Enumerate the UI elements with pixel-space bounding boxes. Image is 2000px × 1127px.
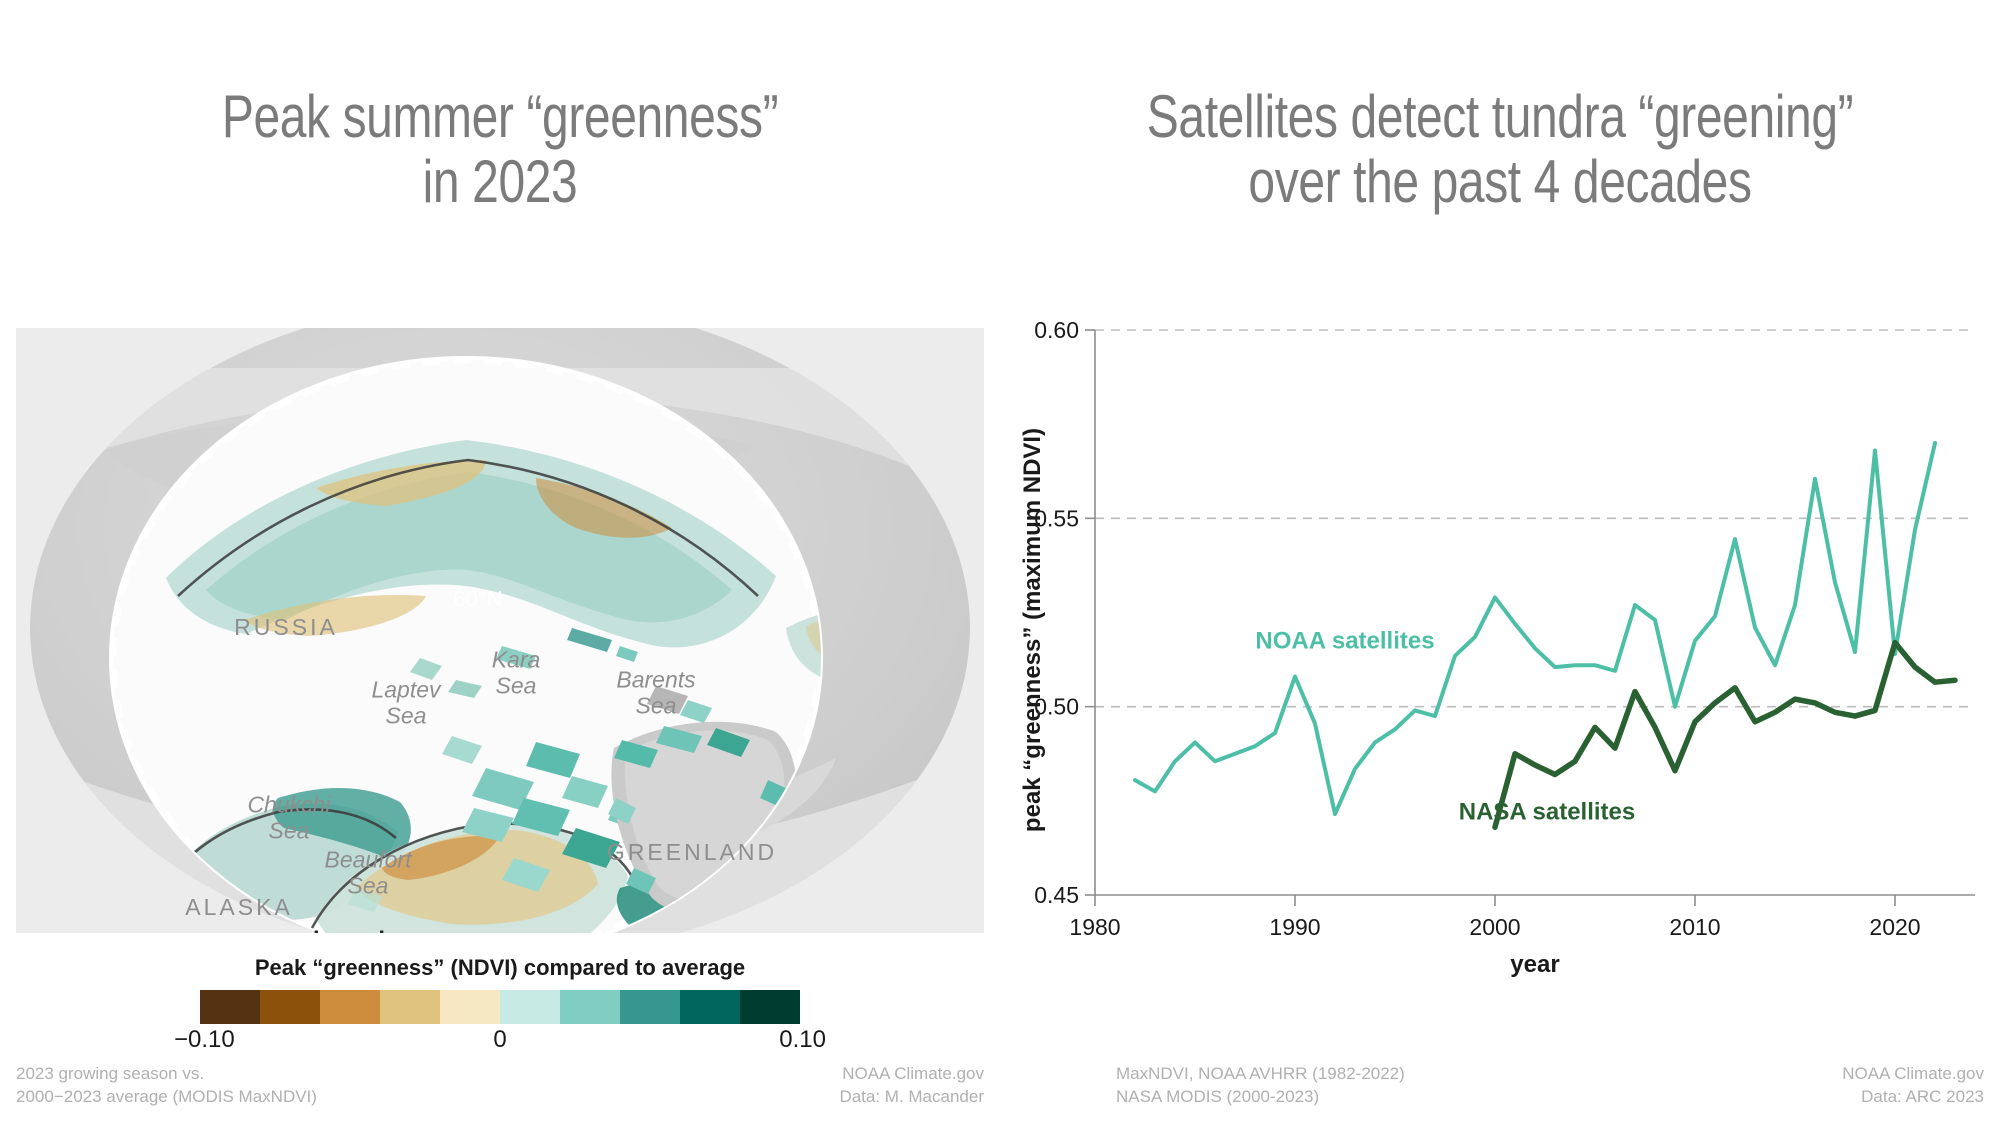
x-tick-label: 1980: [1069, 914, 1120, 940]
colorbar: [200, 990, 800, 1024]
colorbar-swatch-7: [620, 990, 680, 1024]
colorbar-swatch-6: [560, 990, 620, 1024]
colorbar-tick-max: 0.10: [779, 1026, 826, 1054]
page-title-right: Satellites detect tundra “greening” over…: [1100, 85, 1900, 215]
map-graphic: [16, 328, 984, 933]
chart-x-axis-title: year: [1510, 951, 1559, 978]
colorbar-tick-min: −0.10: [174, 1026, 235, 1054]
colorbar-swatch-5: [500, 990, 560, 1024]
chart-xticks: 19801990200020102020: [1069, 895, 1920, 940]
colorbar-swatch-2: [320, 990, 380, 1024]
map-credit-right: NOAA Climate.gov Data: M. Macander: [839, 1063, 984, 1108]
y-tick-label: 0.45: [1034, 882, 1079, 908]
panel-map: Peak summer “greenness” in 2023: [0, 0, 1000, 1127]
colorbar-swatch-8: [680, 990, 740, 1024]
arctic-map: RUSSIA 60°N Kara Sea Laptev Sea Barents …: [16, 328, 984, 933]
x-tick-label: 2010: [1669, 914, 1720, 940]
x-tick-label: 2020: [1869, 914, 1920, 940]
x-tick-label: 1990: [1269, 914, 1320, 940]
colorbar-ticks: −0.10 0 0.10: [150, 1026, 850, 1060]
map-credit-left: 2023 growing season vs. 2000−2023 averag…: [16, 1063, 317, 1108]
colorbar-swatch-4: [440, 990, 500, 1024]
y-tick-label: 0.60: [1034, 317, 1079, 343]
colorbar-tick-mid: 0: [493, 1026, 506, 1054]
colorbar-swatch-1: [260, 990, 320, 1024]
chart-credit-left: MaxNDVI, NOAA AVHRR (1982-2022) NASA MOD…: [1116, 1063, 1405, 1108]
colorbar-swatch-9: [740, 990, 800, 1024]
ndvi-timeseries-chart: 0.450.500.550.60 19801990200020102020 NO…: [1000, 300, 2000, 1000]
chart-svg: 0.450.500.550.60 19801990200020102020 NO…: [1000, 300, 2000, 1000]
chart-credit-right: NOAA Climate.gov Data: ARC 2023: [1842, 1063, 1984, 1108]
x-tick-label: 2000: [1469, 914, 1520, 940]
colorbar-title: Peak “greenness” (NDVI) compared to aver…: [0, 955, 1000, 981]
chart-series-labels: NOAA satellitesNASA satellites: [1255, 627, 1635, 825]
infographic-page: Peak summer “greenness” in 2023: [0, 0, 2000, 1127]
chart-y-axis-title: peak “greenness” (maximum NDVI): [1019, 428, 1046, 832]
series-label-nasa: NASA satellites: [1459, 799, 1636, 826]
panel-chart: Satellites detect tundra “greening” over…: [1000, 0, 2000, 1127]
colorbar-swatch-3: [380, 990, 440, 1024]
series-label-noaa: NOAA satellites: [1255, 627, 1434, 654]
colorbar-swatch-0: [200, 990, 260, 1024]
page-title-left: Peak summer “greenness” in 2023: [100, 85, 900, 215]
